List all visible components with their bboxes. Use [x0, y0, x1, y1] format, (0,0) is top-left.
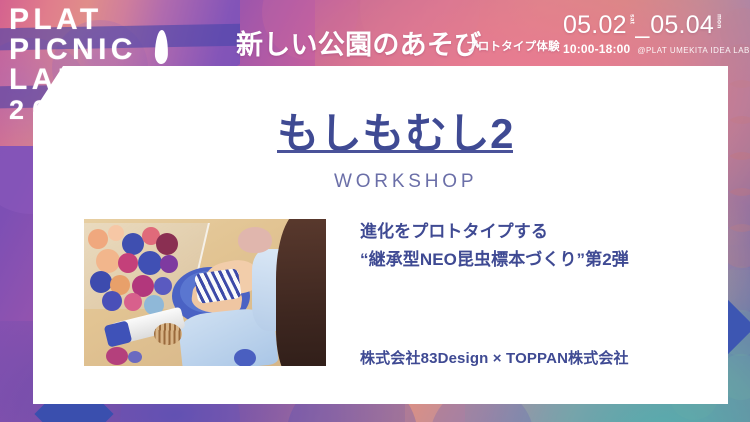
date-separator: _: [635, 13, 649, 38]
event-time: 10:00-18:00: [563, 42, 630, 56]
photo-hair: [276, 219, 326, 366]
photo-bead: [118, 253, 138, 273]
header-subtitle: プロトタイプ体験: [466, 38, 560, 54]
photo-bead: [106, 347, 128, 365]
header-title: 新しい公園のあそび: [236, 23, 481, 62]
date-end: 05.04: [650, 13, 714, 38]
photo-bead: [234, 349, 256, 366]
event-meta: 10:00-18:00 @PLAT UMEKITA IDEA LAB: [563, 42, 750, 56]
date-range: 05.02 sat _ 05.04 mon: [563, 13, 750, 38]
photo-bead: [160, 255, 178, 273]
photo-bead: [124, 293, 142, 311]
photo-bead: [156, 233, 178, 255]
content-card: もしもむし2 WORKSHOP: [33, 66, 728, 404]
photo-bead: [128, 351, 142, 363]
event-date-block: 05.02 sat _ 05.04 mon 10:00-18:00 @PLAT …: [563, 13, 750, 56]
card-subtitle: WORKSHOP: [334, 171, 477, 193]
description: 進化をプロトタイプする “継承型NEO昆虫標本づくり”第2弾: [360, 218, 629, 273]
photo-bead: [96, 249, 120, 273]
credits-line: 株式会社83Design × TOPPAN株式会社: [360, 347, 629, 368]
description-line-1: 進化をプロトタイプする: [360, 218, 629, 246]
workshop-photo: [84, 219, 326, 366]
photo-bead: [102, 291, 122, 311]
photo-bead: [88, 229, 108, 249]
photo-bead: [122, 233, 144, 255]
description-line-2: “継承型NEO昆虫標本づくり”第2弾: [360, 246, 629, 274]
photo-petal-shape: [238, 227, 272, 253]
photo-bead: [90, 271, 112, 293]
date-end-dow: mon: [715, 14, 722, 29]
title-underline: [277, 150, 513, 153]
photo-bead: [138, 251, 162, 275]
photo-striped-part: [194, 268, 242, 304]
date-start-dow: sat: [628, 14, 635, 24]
logo-line-picnic: PICNIC: [9, 33, 137, 67]
photo-spiral: [154, 323, 182, 345]
date-start: 05.02: [563, 13, 627, 38]
photo-bead: [154, 277, 172, 295]
photo-bead: [108, 225, 124, 241]
logo-line-plat: PLAT: [9, 3, 103, 37]
event-venue: @PLAT UMEKITA IDEA LAB: [637, 46, 750, 55]
